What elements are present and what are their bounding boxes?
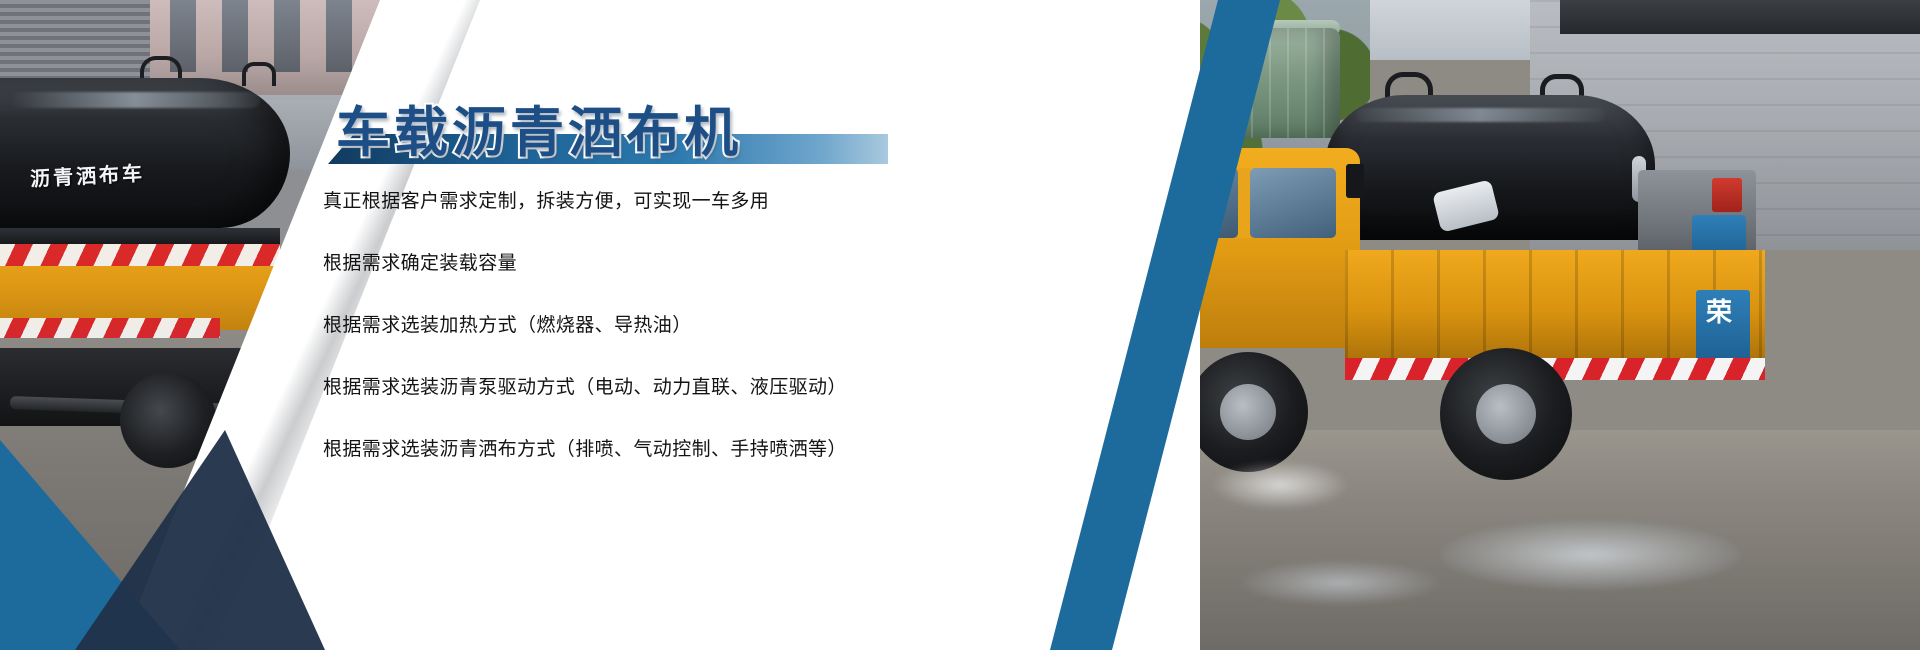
title-block: 车载沥青洒布机 (300, 88, 920, 180)
feature-list-item: 根据需求选装沥青洒布方式（排喷、气动控制、手持喷洒等） (323, 440, 943, 459)
feature-list-item: 根据需求选装加热方式（燃烧器、导热油） (323, 316, 943, 335)
banner-content: 车载沥青洒布机 真正根据客户需求定制，拆装方便，可实现一车多用 根据需求确定装载… (0, 0, 1920, 650)
feature-list: 真正根据客户需求定制，拆装方便，可实现一车多用 根据需求确定装载容量 根据需求选… (323, 192, 943, 459)
page-title: 车载沥青洒布机 (336, 88, 742, 167)
feature-list-item: 根据需求选装沥青泵驱动方式（电动、动力直联、液压驱动） (323, 378, 943, 397)
feature-list-item: 根据需求确定装载容量 (323, 254, 943, 273)
feature-list-item: 真正根据客户需求定制，拆装方便，可实现一车多用 (323, 192, 943, 211)
banner-stage: 沥青洒布车 荣 (0, 0, 1920, 650)
